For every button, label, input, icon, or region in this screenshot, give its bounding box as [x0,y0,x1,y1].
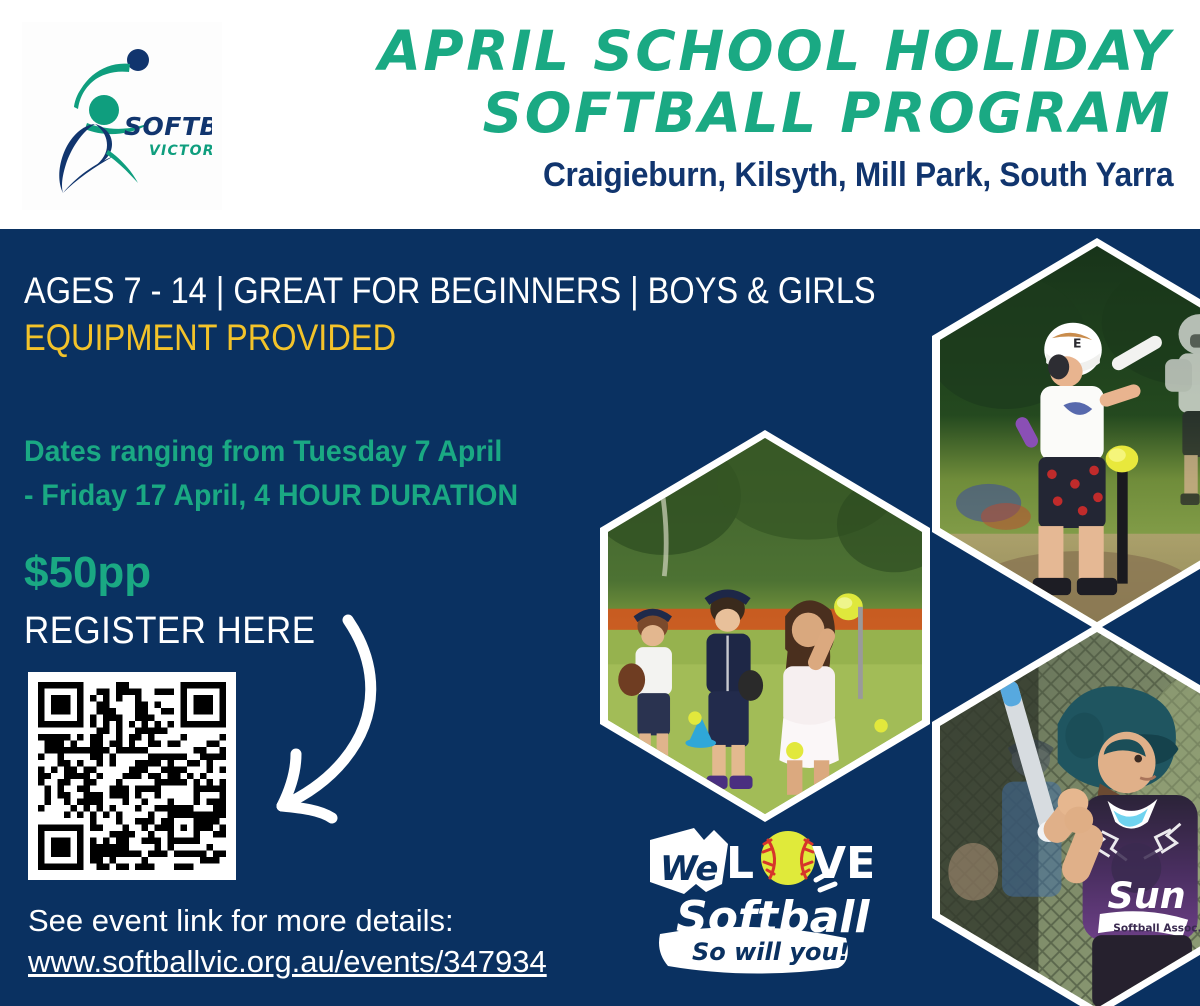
svg-text:VE: VE [812,838,872,889]
footer-group: See event link for more details: www.sof… [28,900,547,982]
badge-we-block: We [650,828,728,894]
dates-line-2: - Friday 17 April, 4 HOUR DURATION [24,474,632,518]
photo-frame-inner: Sun Softball Assoc. [940,632,1200,1006]
photo-frame-inner: E [940,246,1200,622]
svg-text:Sun: Sun [1108,874,1186,917]
footer-label: See event link for more details: [28,900,547,941]
event-link[interactable]: www.softballvic.org.au/events/347934 [28,941,547,982]
header-band: SOFTBALL VICTORIA APRIL SCHOOL HOLIDAY S… [0,0,1200,233]
price-label: $50pp [24,548,151,598]
softball-icon [761,831,815,885]
svg-text:L: L [726,838,754,889]
photo-illustration: Sun Softball Assoc. [940,632,1200,1006]
qr-code[interactable] [28,672,236,880]
header-divider [0,229,1200,234]
ages-line: AGES 7 - 14 | GREAT FOR BEGINNERS | BOYS… [24,268,798,314]
dates-line-1: Dates ranging from Tuesday 7 April [24,430,632,474]
svg-text:So will you!: So will you! [692,938,850,966]
photo-girl-batting-stance: Sun Softball Assoc. [932,624,1200,1006]
dates-block: Dates ranging from Tuesday 7 April - Fri… [24,430,632,518]
we-love-softball-badge: We L VE Softball So will you! [640,818,872,988]
equipment-line: EQUIPMENT PROVIDED [24,314,798,362]
photo-illustration: E [940,246,1200,622]
softball-victoria-logo: SOFTBALL VICTORIA [22,22,222,210]
body-copy-group: AGES 7 - 14 | GREAT FOR BEGINNERS | BOYS… [24,268,904,362]
locations-subtitle: Craigieburn, Kilsyth, Mill Park, South Y… [307,144,1191,196]
curved-arrow-icon [252,604,412,834]
header-text-group: APRIL SCHOOL HOLIDAY SOFTBALL PROGRAM Cr… [240,20,1190,220]
photo-boy-batting-off-tee: E [932,238,1200,630]
svg-text:Softball Assoc.: Softball Assoc. [1113,922,1200,934]
photo-frame-inner [608,438,922,814]
qr-code-icon[interactable] [38,682,226,870]
svg-text:SOFTBALL: SOFTBALL [124,112,212,141]
logo-mark-icon: SOFTBALL VICTORIA [32,31,212,201]
svg-text:E: E [1073,336,1082,351]
photo-illustration [608,438,922,814]
poster-root: SOFTBALL VICTORIA APRIL SCHOOL HOLIDAY S… [0,0,1200,1006]
title-line-1: APRIL SCHOOL HOLIDAY [240,20,1190,82]
svg-text:We: We [660,849,718,889]
svg-text:VICTORIA: VICTORIA [149,143,212,159]
title-line-2: SOFTBALL PROGRAM [240,82,1190,144]
photo-kids-fielding-practice [600,430,930,822]
